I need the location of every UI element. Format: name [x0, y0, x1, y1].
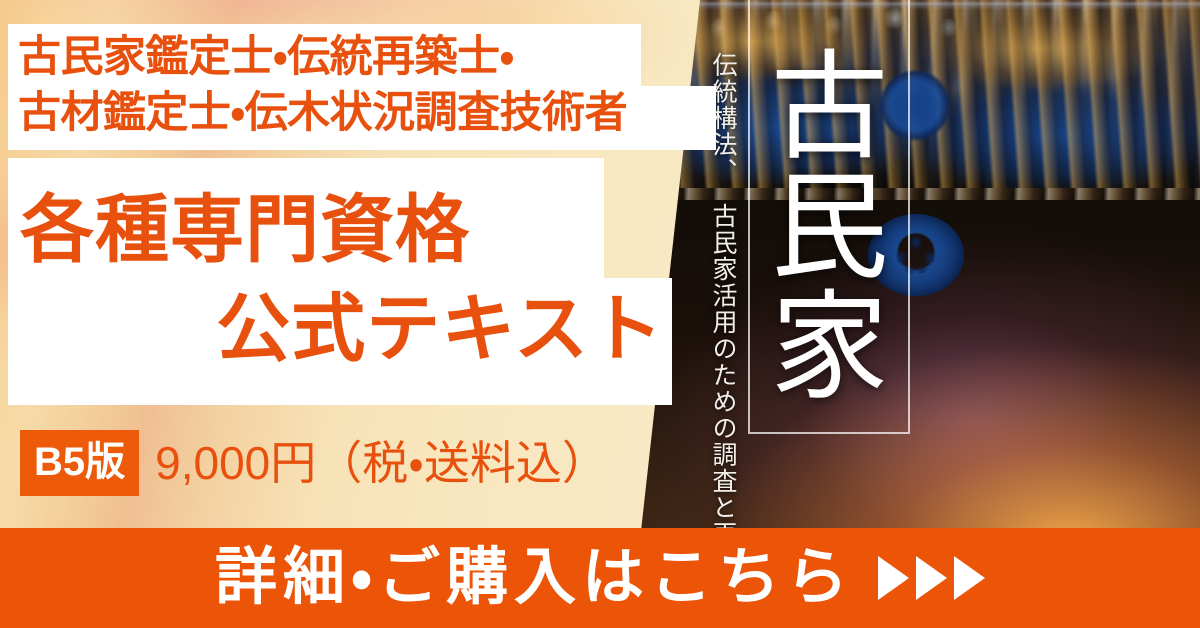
main-headline-line-1: 各種専門資格: [20, 188, 470, 271]
cta-label: 詳細・ご購入はこちら: [215, 547, 854, 609]
size-badge: B5版: [20, 430, 139, 496]
cover-title-text: 古民家: [768, 4, 892, 444]
arrow-right-icon-2: [916, 556, 947, 600]
arrow-right-icon-1: [878, 556, 909, 600]
cta-bar[interactable]: 詳細・ご購入はこちら: [0, 528, 1200, 628]
qualifications-line-1: 古民家鑑定士・伝統再築士・: [18, 30, 718, 86]
triple-chevron-right-icon: [878, 556, 985, 600]
arrow-right-icon-3: [954, 556, 985, 600]
promo-banner: 古民家 伝統構法、古民家活用のための調査と再生の 古民家鑑定士・伝統再築士・ 古…: [0, 0, 1200, 628]
qualifications-heading: 古民家鑑定士・伝統再築士・ 古材鑑定士・伝木状況調査技術者: [18, 30, 718, 142]
cover-subtitle-line-2: 古民家活用のための調査と再生の: [709, 203, 736, 541]
main-headline: 各種専門資格 公式テキスト: [20, 180, 670, 378]
qualifications-line-2: 古材鑑定士・伝木状況調査技術者: [18, 86, 718, 142]
main-headline-line-2: 公式テキスト: [20, 279, 670, 378]
price-row: B5版 9,000円（税・送料込）: [20, 430, 608, 496]
price-text: 9,000円（税・送料込）: [155, 440, 608, 486]
